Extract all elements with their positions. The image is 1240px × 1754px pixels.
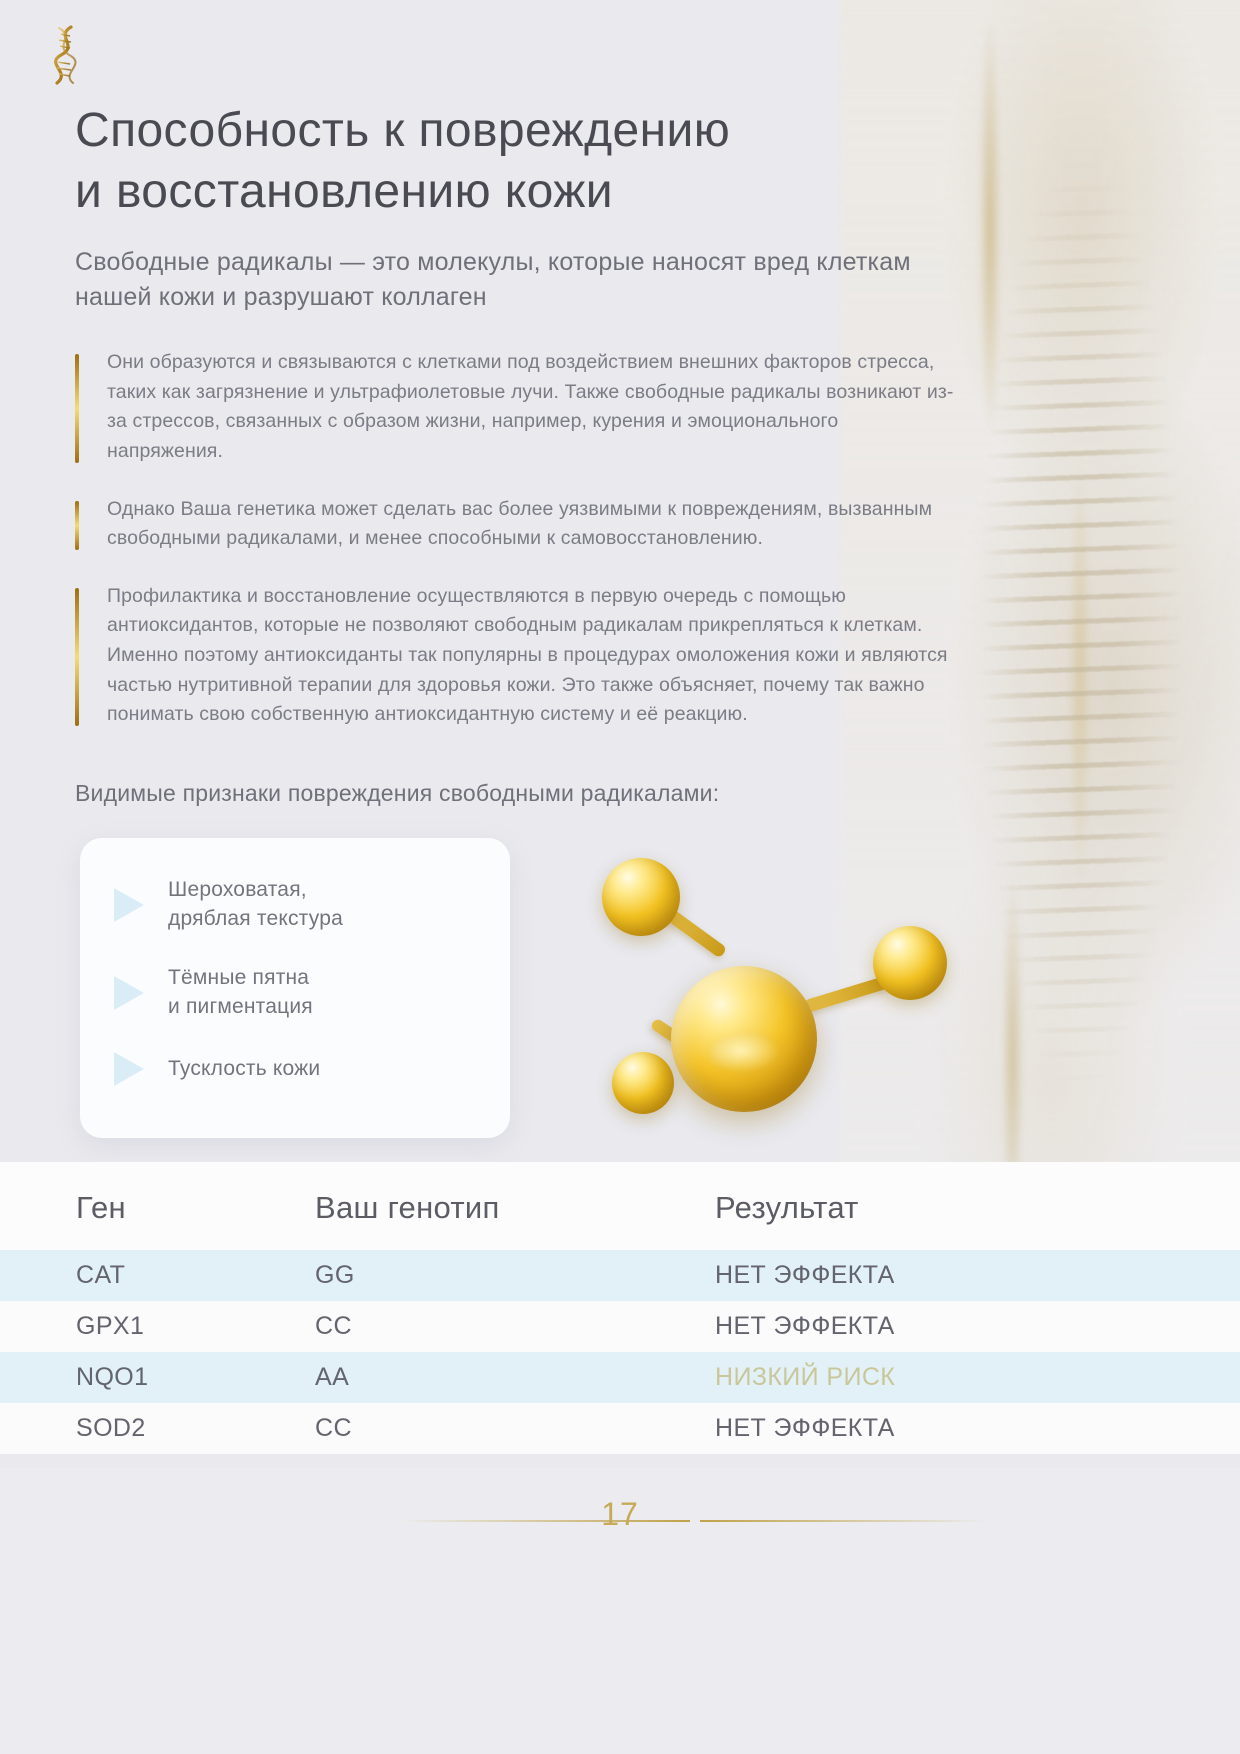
list-item: Тёмные пятна и пигментация (114, 964, 313, 1021)
molecule-atom (612, 1052, 674, 1114)
cell-result: НЕТ ЭФФЕКТА (715, 1301, 1240, 1352)
table-row: NQO1 AA НИЗКИЙ РИСК (0, 1352, 1240, 1403)
triangle-bullet-icon (114, 888, 144, 922)
page-title-line-1: Способность к повреждению (75, 104, 730, 157)
molecule-bond (803, 976, 889, 1014)
list-item: Тусклость кожи (114, 1052, 320, 1086)
page-title-line-2: и восстановлению кожи (75, 165, 613, 218)
list-item-label: Тёмные пятна и пигментация (168, 964, 313, 1021)
cell-gene: GPX1 (0, 1301, 315, 1352)
paragraph-list: Они образуются и связываются с клетками … (75, 348, 955, 758)
cell-gene: SOD2 (0, 1403, 315, 1454)
paragraph-text: Однако Ваша генетика может сделать вас б… (107, 495, 955, 554)
signs-card: Шероховатая, дряблая текстура Тёмные пят… (80, 838, 510, 1138)
gene-results-table: Ген Ваш генотип Результат CAT GG НЕТ ЭФФ… (0, 1162, 1240, 1454)
list-item-label: Шероховатая, дряблая текстура (168, 876, 343, 933)
paragraph-text: Профилактика и восстановление осуществля… (107, 582, 955, 730)
cell-genotype: GG (315, 1250, 715, 1301)
cell-result: НИЗКИЙ РИСК (715, 1352, 1240, 1403)
page-title: Способность к повреждению и восстановлен… (75, 100, 975, 223)
cell-genotype: CC (315, 1403, 715, 1454)
molecule-atom (602, 858, 680, 936)
cell-result: НЕТ ЭФФЕКТА (715, 1403, 1240, 1454)
cell-genotype: CC (315, 1301, 715, 1352)
dna-helix-logo (45, 24, 87, 86)
cell-gene: CAT (0, 1250, 315, 1301)
gold-accent-bar (75, 501, 79, 550)
column-header-gene: Ген (0, 1162, 315, 1250)
gold-accent-bar (75, 354, 79, 463)
list-item: Шероховатая, дряблая текстура (114, 876, 343, 933)
list-item-line-1: Шероховатая, (168, 878, 307, 901)
gold-molecule-illustration (575, 830, 995, 1160)
results-table-section: Ген Ваш генотип Результат CAT GG НЕТ ЭФФ… (0, 1162, 1240, 1454)
page-number: 17 (0, 1496, 1240, 1533)
paragraph-text: Они образуются и связываются с клетками … (107, 348, 955, 467)
table-row: GPX1 CC НЕТ ЭФФЕКТА (0, 1301, 1240, 1352)
column-header-result: Результат (715, 1162, 1240, 1250)
molecule-core-atom (671, 966, 817, 1112)
triangle-bullet-icon (114, 1052, 144, 1086)
dna-backbone-highlight (960, 0, 1110, 1250)
triangle-bullet-icon (114, 976, 144, 1010)
cell-gene: NQO1 (0, 1352, 315, 1403)
cell-result: НЕТ ЭФФЕКТА (715, 1250, 1240, 1301)
gold-accent-bar (75, 588, 79, 726)
table-row: SOD2 CC НЕТ ЭФФЕКТА (0, 1403, 1240, 1454)
list-item-line-1: Тусклость кожи (168, 1057, 320, 1080)
table-row: CAT GG НЕТ ЭФФЕКТА (0, 1250, 1240, 1301)
signs-heading: Видимые признаки повреждения свободными … (75, 780, 975, 807)
paragraph-block: Профилактика и восстановление осуществля… (75, 582, 955, 730)
list-item-line-1: Тёмные пятна (168, 966, 309, 989)
table-header-row: Ген Ваш генотип Результат (0, 1162, 1240, 1250)
list-item-line-2: и пигментация (168, 995, 313, 1018)
molecule-bond (650, 1017, 715, 1066)
list-item-line-2: дряблая текстура (168, 907, 343, 930)
cell-genotype: AA (315, 1352, 715, 1403)
page-subtitle: Свободные радикалы — это молекулы, котор… (75, 245, 955, 314)
molecule-atom (873, 926, 947, 1000)
list-item-label: Тусклость кожи (168, 1055, 320, 1084)
paragraph-block: Они образуются и связываются с клетками … (75, 348, 955, 467)
molecule-bond (657, 902, 728, 958)
paragraph-block: Однако Ваша генетика может сделать вас б… (75, 495, 955, 554)
column-header-genotype: Ваш генотип (315, 1162, 715, 1250)
